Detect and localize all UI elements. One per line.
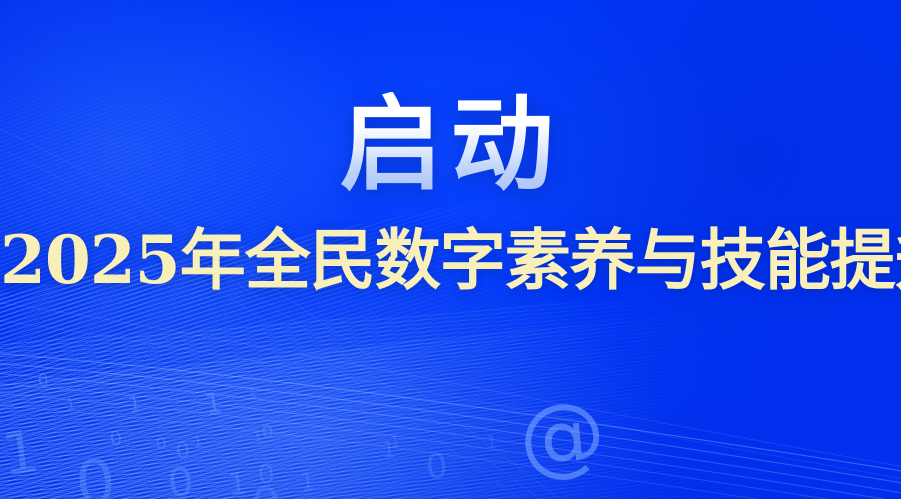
page-title: 启动 <box>0 92 901 199</box>
slide-content: 启动 2025年全民数字素养与技能提升月 <box>0 0 901 499</box>
presentation-slide: 0111100110100100111010 @ · · · · · · · ·… <box>0 0 901 499</box>
page-subtitle: 2025年全民数字素养与技能提升月 <box>0 226 901 295</box>
